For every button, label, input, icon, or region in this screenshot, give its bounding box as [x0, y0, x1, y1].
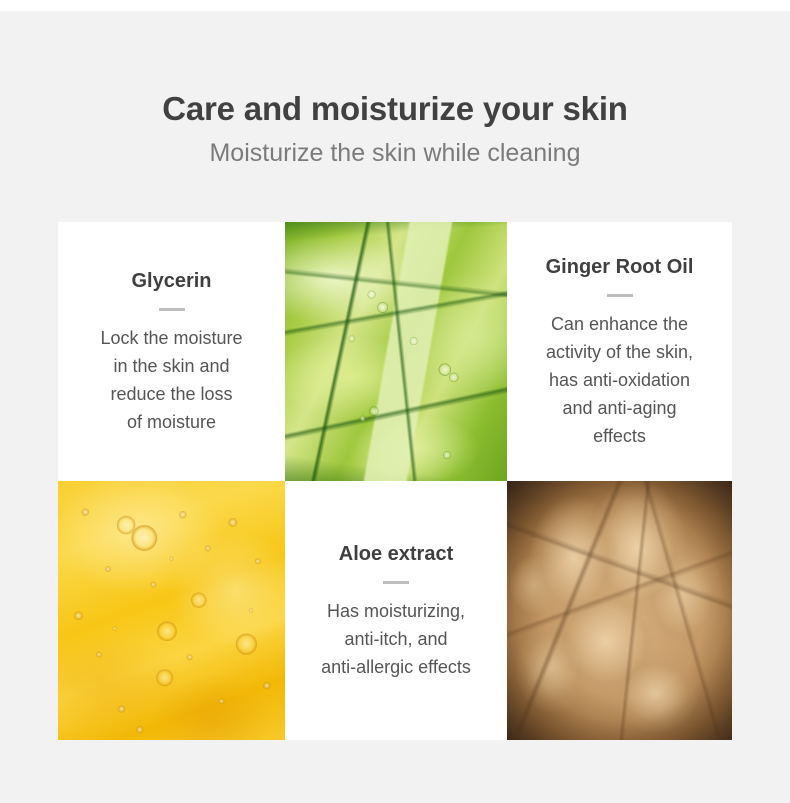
- card-body: Has moisturizing, anti-itch, and anti-al…: [321, 597, 471, 681]
- title-divider: [607, 294, 633, 297]
- ginger-root-photo: [507, 481, 732, 740]
- golden-oil-photo: [58, 481, 285, 740]
- ingredient-grid: Glycerin Lock the moisture in the skin a…: [58, 222, 732, 740]
- aloe-gel-photo: [285, 222, 507, 481]
- page-title: Care and moisturize your skin: [0, 88, 790, 130]
- card-title: Glycerin: [131, 268, 211, 294]
- card-title: Ginger Root Oil: [546, 254, 694, 280]
- ingredient-card-glycerin: Glycerin Lock the moisture in the skin a…: [58, 222, 285, 481]
- aloe-bubble-layer: [285, 222, 507, 481]
- title-divider: [159, 308, 185, 311]
- card-body: Can enhance the activity of the skin, ha…: [546, 310, 693, 450]
- ingredient-card-aloe-extract: Aloe extract Has moisturizing, anti-itch…: [285, 481, 507, 740]
- ingredient-card-ginger-root-oil: Ginger Root Oil Can enhance the activity…: [507, 222, 732, 481]
- title-divider: [383, 581, 409, 584]
- header: Care and moisturize your skin Moisturize…: [0, 88, 790, 170]
- infographic-page: Care and moisturize your skin Moisturize…: [0, 0, 790, 803]
- card-title: Aloe extract: [339, 541, 454, 567]
- oil-small-bubble-layer: [58, 481, 285, 740]
- card-body: Lock the moisture in the skin and reduce…: [100, 324, 242, 436]
- ginger-vignette-layer: [507, 481, 732, 740]
- page-subtitle: Moisturize the skin while cleaning: [0, 130, 790, 170]
